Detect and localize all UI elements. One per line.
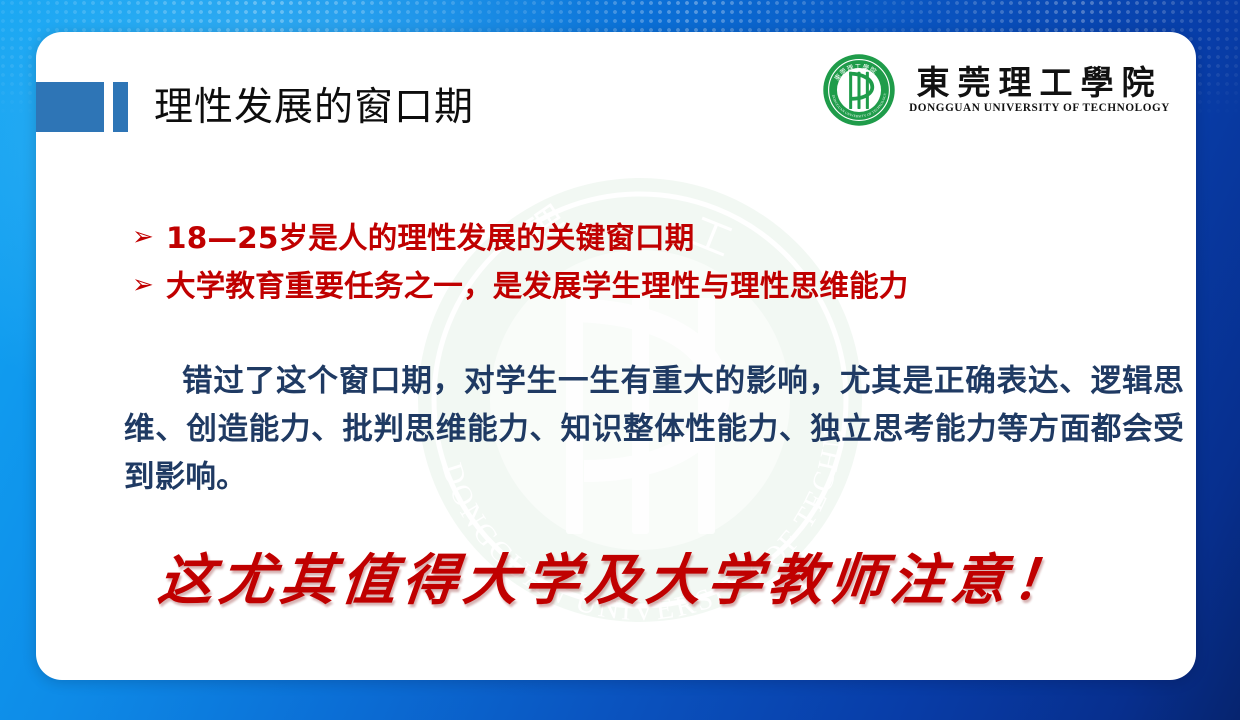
logo-text-block: 東莞理工學院 DONGGUAN UNIVERSITY OF TECHNOLOGY [909, 66, 1170, 114]
title-row: 理性发展的窗口期 [36, 76, 474, 138]
body-paragraph: 错过了这个窗口期，对学生一生有重大的影响，尤其是正确表达、逻辑思维、创造能力、批… [124, 358, 1184, 502]
title-accent-bar-wide [36, 82, 104, 132]
content-card: 理 工 DONGGUAN UNIVERSITY OF TECHNOLOGY 理性… [36, 32, 1196, 680]
conclusion-text: 这尤其值得大学及大学教师注意！ [36, 548, 1196, 611]
arrow-bullet-icon: ➢ [132, 266, 166, 304]
logo-name-cn: 東莞理工學院 [917, 66, 1163, 101]
list-item: ➢ 18—25岁是人的理性发展的关键窗口期 [132, 218, 1172, 258]
list-item-label: 大学教育重要任务之一，是发展学生理性与理性思维能力 [166, 266, 909, 306]
page-title: 理性发展的窗口期 [154, 88, 474, 127]
university-seal-icon: 東莞理工學院 DONGGUAN UNIVERSITY OF TECHNOLOGY [821, 52, 897, 128]
logo-name-en: DONGGUAN UNIVERSITY OF TECHNOLOGY [909, 102, 1170, 114]
arrow-bullet-icon: ➢ [132, 218, 166, 256]
university-logo: 東莞理工學院 DONGGUAN UNIVERSITY OF TECHNOLOGY… [821, 52, 1170, 128]
list-item: ➢ 大学教育重要任务之一，是发展学生理性与理性思维能力 [132, 266, 1172, 306]
list-item-label: 18—25岁是人的理性发展的关键窗口期 [166, 218, 694, 258]
title-accent-bar-narrow [113, 82, 128, 132]
slide-canvas: 理 工 DONGGUAN UNIVERSITY OF TECHNOLOGY 理性… [0, 0, 1240, 720]
bullet-list: ➢ 18—25岁是人的理性发展的关键窗口期 ➢ 大学教育重要任务之一，是发展学生… [132, 218, 1172, 314]
